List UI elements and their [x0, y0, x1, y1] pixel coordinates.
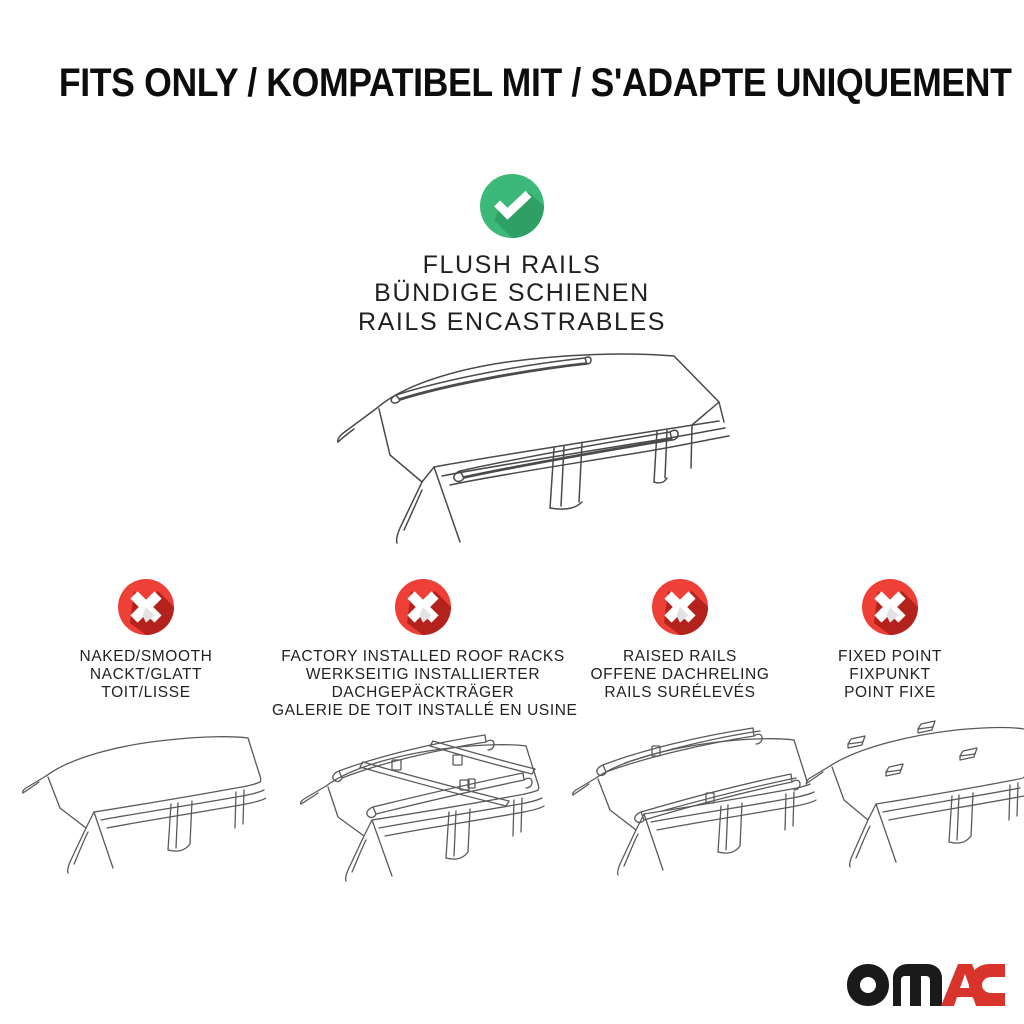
incompatible-item-fixed-point: FIXED POINT FIXPUNKT POINT FIXE: [786, 578, 994, 702]
compatible-labels: FLUSH RAILS BÜNDIGE SCHIENEN RAILS ENCAS…: [0, 251, 1024, 336]
caption-line-en: FIXED POINT: [786, 648, 994, 666]
caption: RAISED RAILS OFFENE DACHRELING RAILS SUR…: [578, 648, 782, 702]
x-circle-icon: [651, 578, 709, 636]
caption-line-de: OFFENE DACHRELING: [578, 666, 782, 684]
incompatible-illustrations: [0, 716, 1024, 911]
caption: NAKED/SMOOTH NACKT/GLATT TOIT/LISSE: [26, 648, 266, 702]
compatibility-infographic: FITS ONLY / KOMPATIBEL MIT / S'ADAPTE UN…: [0, 0, 1024, 1024]
caption-line-en: NAKED/SMOOTH: [26, 648, 266, 666]
caption-line-de: FIXPUNKT: [786, 666, 994, 684]
caption: FIXED POINT FIXPUNKT POINT FIXE: [786, 648, 994, 702]
header: FITS ONLY / KOMPATIBEL MIT / S'ADAPTE UN…: [0, 62, 1024, 104]
x-circle-icon: [861, 578, 919, 636]
car-roof-naked-smooth-illustration: [8, 716, 266, 911]
incompatible-section: NAKED/SMOOTH NACKT/GLATT TOIT/LISSE FACT…: [0, 578, 1024, 718]
compatible-label-en: FLUSH RAILS: [0, 251, 1024, 279]
x-circle-icon: [117, 578, 175, 636]
caption-line-de-2: DACHGEPÄCKTRÄGER: [272, 684, 574, 702]
caption-line-fr: POINT FIXE: [786, 684, 994, 702]
car-roof-fixed-point-illustration: [800, 716, 1024, 911]
compatible-label-de: BÜNDIGE SCHIENEN: [0, 279, 1024, 307]
compatible-section: FLUSH RAILS BÜNDIGE SCHIENEN RAILS ENCAS…: [0, 173, 1024, 336]
caption-line-de: NACKT/GLATT: [26, 666, 266, 684]
incompatible-item-naked-smooth: NAKED/SMOOTH NACKT/GLATT TOIT/LISSE: [26, 578, 266, 702]
caption-line-en: FACTORY INSTALLED ROOF RACKS: [272, 648, 574, 666]
incompatible-item-raised-rails: RAISED RAILS OFFENE DACHRELING RAILS SUR…: [578, 578, 782, 702]
car-roof-raised-rails-illustration: [556, 716, 818, 911]
caption: FACTORY INSTALLED ROOF RACKS WERKSEITIG …: [272, 648, 574, 720]
caption-line-de-1: WERKSEITIG INSTALLIERTER: [272, 666, 574, 684]
car-roof-factory-racks-illustration: [268, 716, 560, 911]
page-title: FITS ONLY / KOMPATIBEL MIT / S'ADAPTE UN…: [59, 62, 1012, 104]
caption-line-en: RAISED RAILS: [578, 648, 782, 666]
x-circle-icon: [394, 578, 452, 636]
check-circle-icon: [479, 173, 545, 239]
caption-line-fr: RAILS SURÉLEVÉS: [578, 684, 782, 702]
caption-line-fr: TOIT/LISSE: [26, 684, 266, 702]
incompatible-item-factory-installed-roof-racks: FACTORY INSTALLED ROOF RACKS WERKSEITIG …: [272, 578, 574, 720]
omac-logo: OMAC: [846, 960, 1006, 1008]
car-roof-flush-rails-illustration: [282, 330, 752, 580]
